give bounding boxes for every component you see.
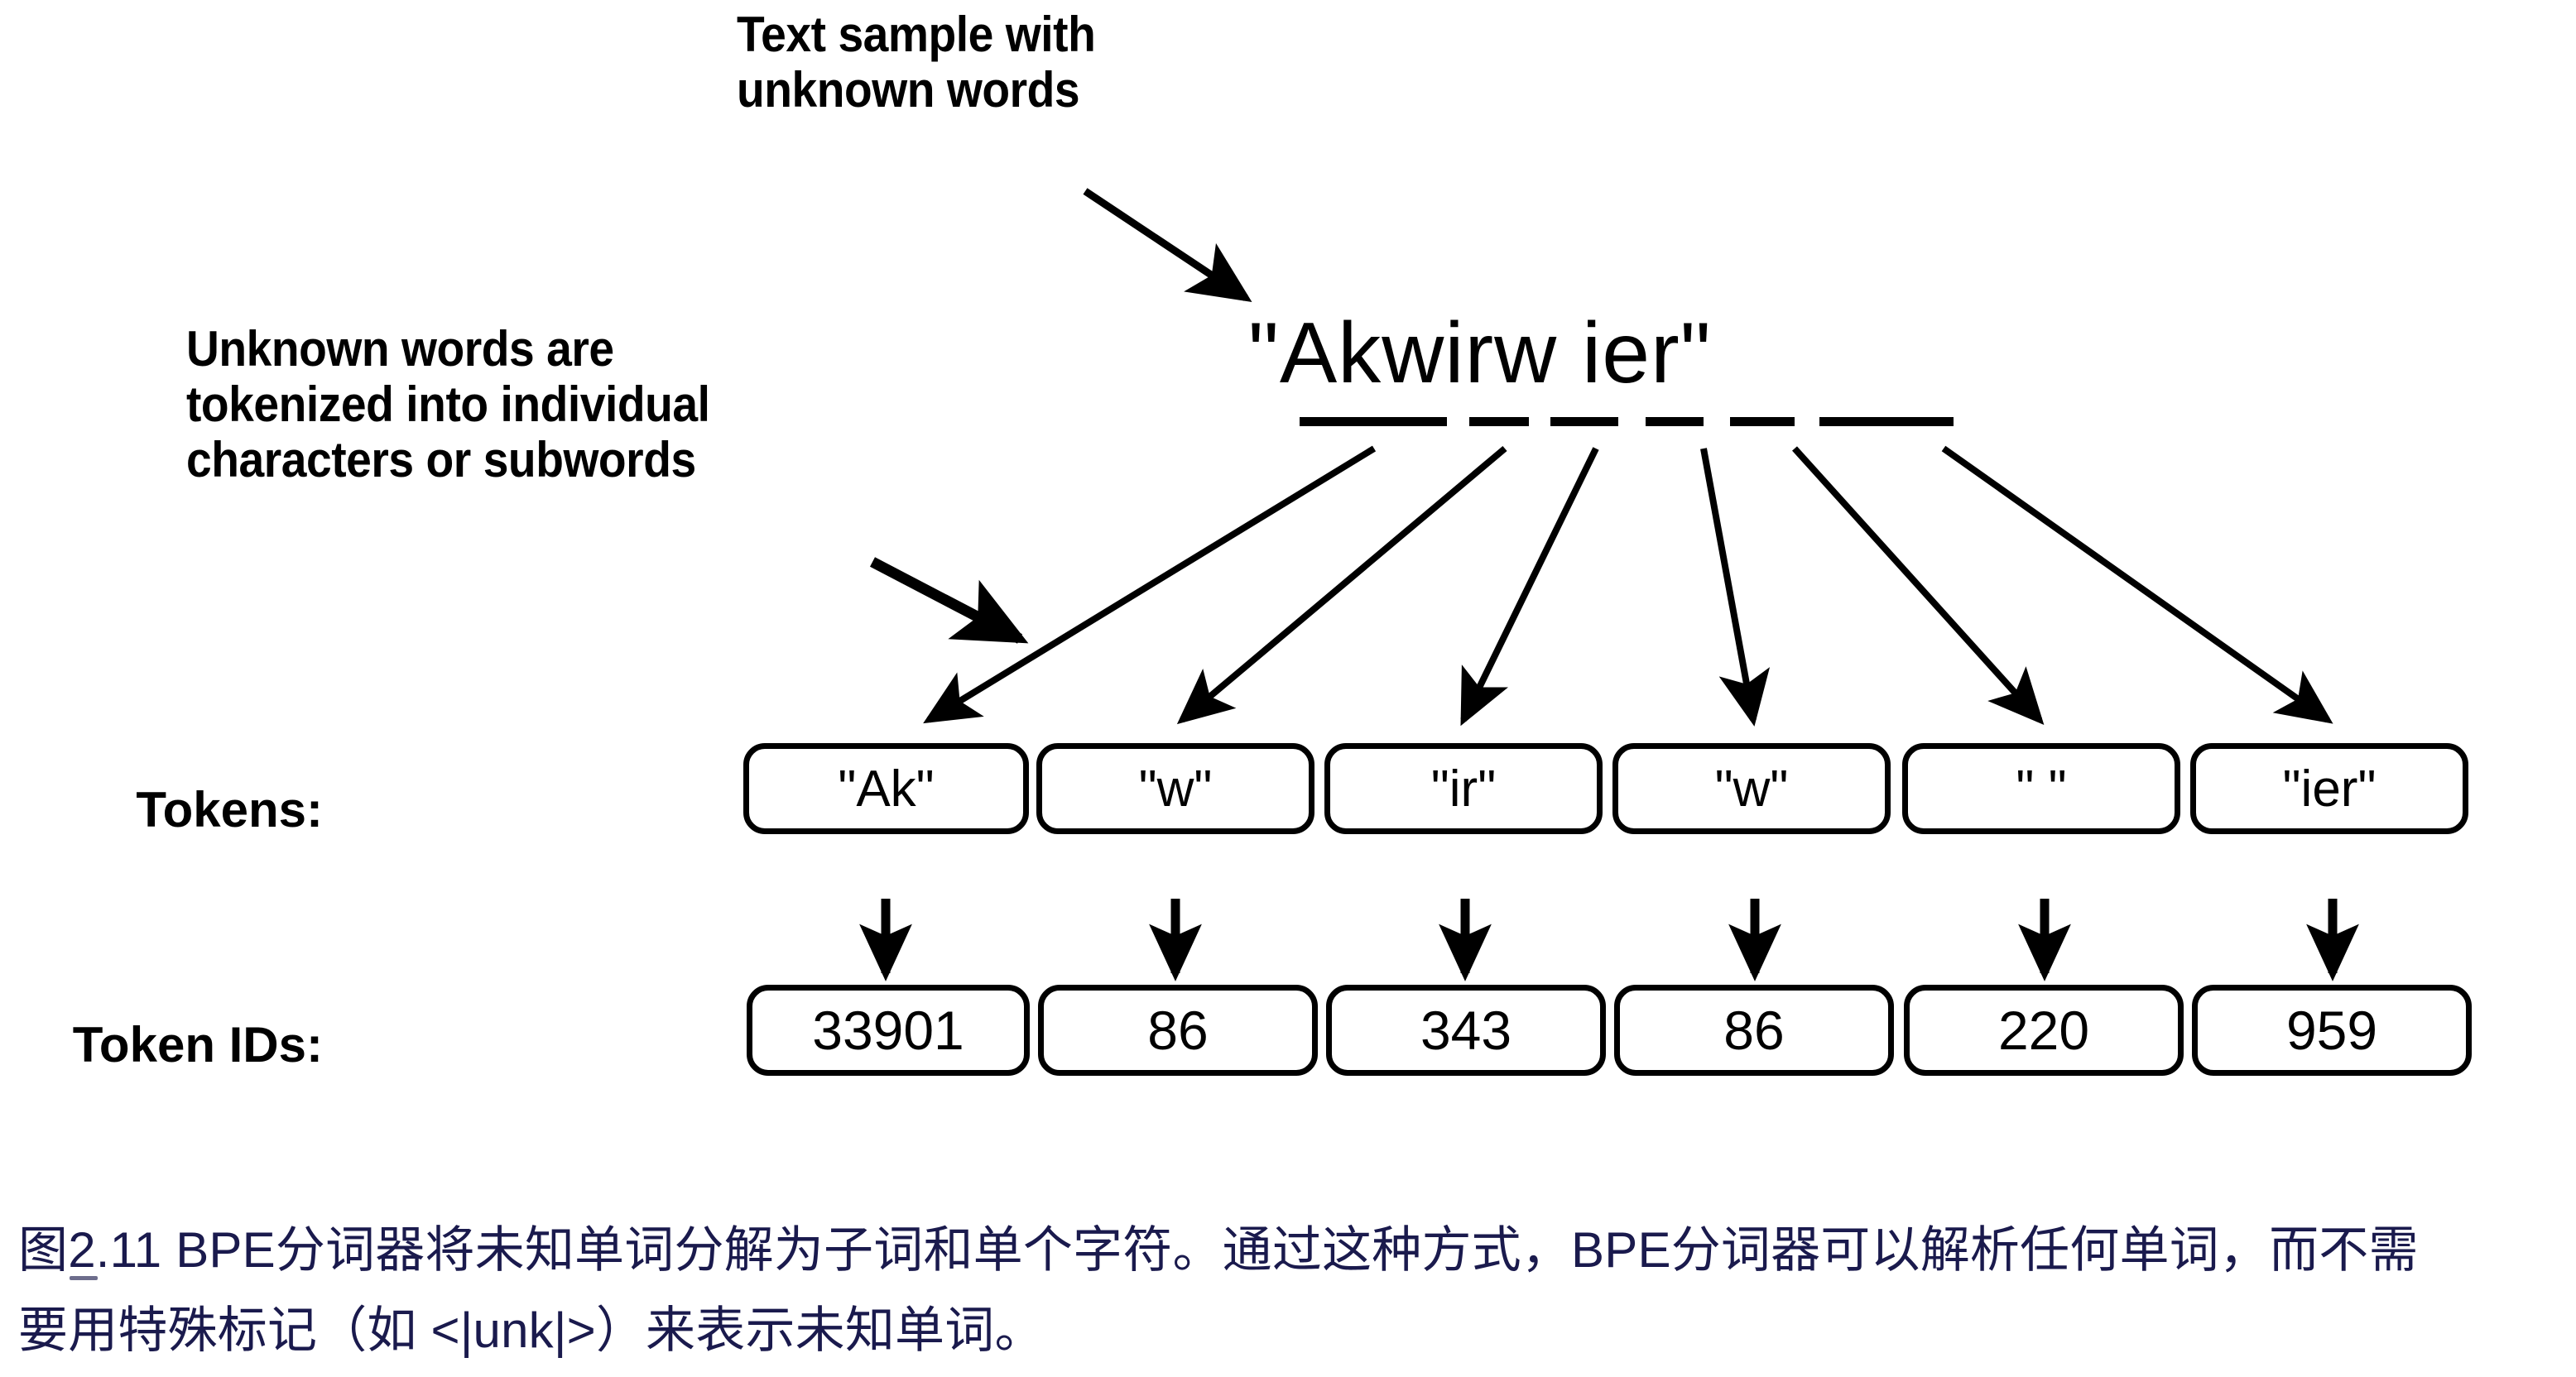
arrow-top-callout-to-string	[1085, 191, 1246, 298]
underline-segment-2	[1469, 417, 1529, 426]
source-string: "Akwirw ier"	[1248, 305, 1712, 403]
token-box[interactable]: "w"	[1612, 743, 1891, 834]
row-label-token-ids: Token IDs:	[73, 1016, 323, 1073]
underline-segment-4	[1646, 417, 1704, 426]
arrow-left-callout-to-tokens	[872, 562, 1020, 639]
token-id-box[interactable]: 86	[1038, 985, 1318, 1076]
token-box[interactable]: " "	[1902, 743, 2180, 834]
arrow-segment-to-token-2	[1182, 449, 1505, 720]
arrow-segment-to-token-4	[1704, 449, 1753, 720]
token-id-box[interactable]: 86	[1614, 985, 1894, 1076]
token-box[interactable]: "ir"	[1324, 743, 1603, 834]
token-id-box[interactable]: 33901	[747, 985, 1030, 1076]
underline-segment-5	[1730, 417, 1795, 426]
caption-number-underline	[70, 1276, 98, 1280]
token-box[interactable]: "w"	[1036, 743, 1314, 834]
token-box[interactable]: "ier"	[2190, 743, 2468, 834]
arrow-segment-to-token-1	[929, 449, 1374, 720]
arrow-segment-to-token-3	[1463, 449, 1596, 720]
underline-segment-6	[1819, 417, 1954, 426]
figure-caption: 图2.11 BPE分词器将未知单词分解为子词和单个字符。通过这种方式，BPE分词…	[18, 1210, 2559, 1370]
token-box[interactable]: "Ak"	[743, 743, 1029, 834]
token-id-box[interactable]: 343	[1326, 985, 1606, 1076]
underline-segment-3	[1550, 417, 1618, 426]
row-label-tokens: Tokens:	[136, 781, 323, 838]
callout-unknown-words: Unknown words are tokenized into individ…	[186, 321, 710, 488]
arrow-segment-to-token-5	[1795, 449, 2040, 720]
arrow-segment-to-token-6	[1944, 449, 2328, 720]
token-id-box[interactable]: 959	[2192, 985, 2472, 1076]
arrow-layer	[0, 0, 2576, 1377]
underline-segment-1	[1300, 417, 1447, 426]
token-id-box[interactable]: 220	[1904, 985, 2184, 1076]
callout-text-sample: Text sample with unknown words	[737, 7, 1095, 118]
